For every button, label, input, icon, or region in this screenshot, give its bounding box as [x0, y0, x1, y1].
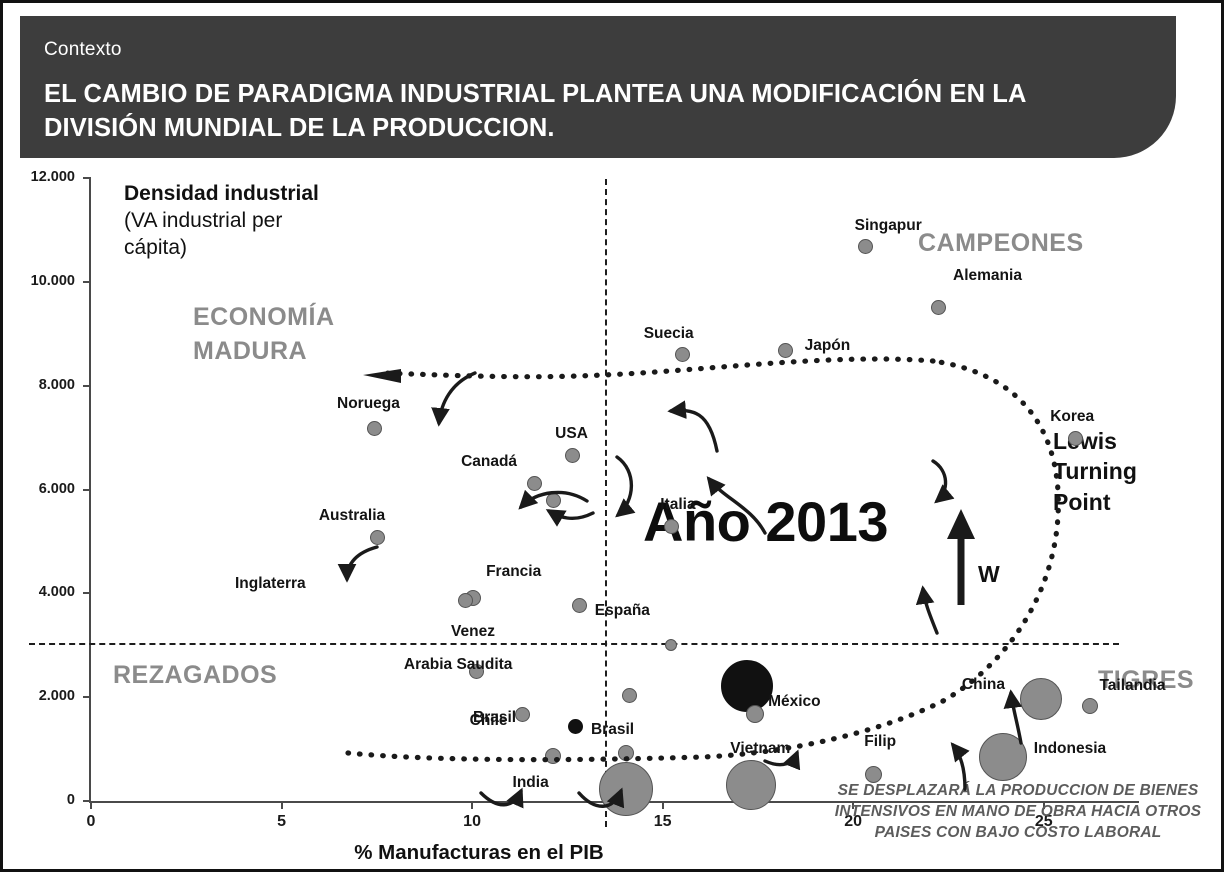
arrow-up-right-alemania — [709, 479, 765, 533]
slide-root: Contexto EL CAMBIO DE PARADIGMA INDUSTRI… — [0, 0, 1224, 872]
arrow-curl-ano — [933, 461, 946, 501]
arrow-francia — [347, 547, 377, 579]
arrow-tailandia-up — [1011, 693, 1021, 743]
arrow-japon-to-suecia — [521, 492, 587, 507]
arrow-china-hook — [953, 745, 965, 789]
arrow-alemania-to-singapur — [671, 410, 717, 451]
slide-header: Contexto EL CAMBIO DE PARADIGMA INDUSTRI… — [20, 16, 1176, 158]
header-headline: EL CAMBIO DE PARADIGMA INDUSTRIAL PLANTE… — [44, 78, 1144, 145]
w-arrow — [947, 509, 975, 605]
arrow-down-to-usa — [439, 373, 475, 423]
scatter-chart: Densidad industrial (VA industrial per c… — [3, 161, 1221, 872]
arrow-into-japon — [617, 457, 631, 515]
trajectory-arrowhead — [363, 369, 401, 383]
arrow-korea-up — [923, 589, 937, 633]
header-kicker: Contexto — [44, 39, 122, 61]
arrow-italia — [549, 511, 593, 518]
annotation-overlay — [3, 161, 1221, 872]
arrow-india-hook — [481, 791, 521, 805]
arrow-indonesia-hook — [765, 753, 797, 765]
arrow-vietnam-hook — [579, 791, 621, 806]
